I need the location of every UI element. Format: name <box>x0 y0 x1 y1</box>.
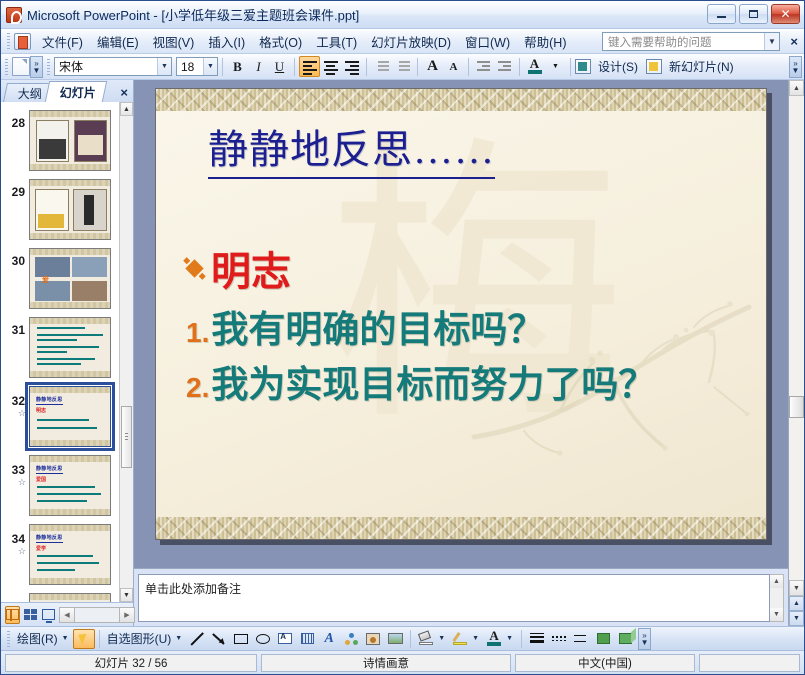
font-size-value: 18 <box>181 60 194 74</box>
arrow-tool-button[interactable] <box>208 629 230 649</box>
scrollbar-track[interactable] <box>789 96 804 580</box>
slide-number: 28 <box>3 110 29 130</box>
align-center-icon <box>324 61 338 72</box>
notes-scrollbar[interactable]: ▲ ▼ <box>770 574 784 622</box>
list-item[interactable]: 32 ☆ 静静地反思 明志 <box>1 383 119 452</box>
dash-style-button[interactable] <box>548 629 570 649</box>
window-controls: ✕ <box>707 4 800 24</box>
autoshapes-menu-button[interactable]: 自选图形(U) <box>104 630 175 647</box>
drawing-toolbar: 绘图(R) ▼ 自选图形(U) ▼ A ▼ ▼ A ▼ <box>1 626 804 650</box>
font-color-dropdown[interactable]: ▼ <box>545 56 566 77</box>
font-color-icon: A <box>486 629 503 648</box>
scroll-left-icon[interactable]: ◀ <box>59 607 75 623</box>
formatting-toolbar-overflow-icon[interactable]: »▼ <box>789 56 802 78</box>
decrease-indent-icon <box>477 61 491 72</box>
slide-thumbnail[interactable]: 静静地反思 爱学 <box>29 524 111 585</box>
slide-title[interactable]: 静静地反思…… <box>208 117 495 179</box>
slide-thumbnail[interactable]: 静静地反思 爱国 <box>29 455 111 516</box>
powerpoint-window: Microsoft PowerPoint - [小学低年级三爱主题班会课件.pp… <box>0 0 805 675</box>
menu-item-format[interactable]: 格式(O) <box>252 29 309 54</box>
scroll-right-icon[interactable]: ▶ <box>119 607 135 623</box>
list-item[interactable]: 29 <box>1 176 119 245</box>
fill-color-button[interactable] <box>415 629 437 649</box>
powerpoint-app-icon <box>6 7 22 23</box>
diamond-bullet-icon <box>185 259 203 277</box>
current-slide[interactable]: 梅 <box>155 88 767 540</box>
clip-art-icon <box>366 633 380 645</box>
arrow-style-button[interactable] <box>570 629 592 649</box>
list-item[interactable]: 33 ☆ 静静地反思 爱国 <box>1 452 119 521</box>
decrease-indent-button[interactable] <box>473 56 494 77</box>
slide-list-item-2[interactable]: 2. 我为实现目标而努力了吗？ <box>186 354 655 408</box>
slide-thumbnail[interactable]: 爱 <box>29 248 111 309</box>
thumbnail-accent: 爱学 <box>36 545 46 552</box>
editing-area: 梅 <box>134 80 788 626</box>
font-name-value: 宋体 <box>59 58 83 75</box>
thumbnail-accent: 明志 <box>36 407 46 414</box>
text-box-button[interactable] <box>274 629 296 649</box>
design-icon <box>575 59 591 74</box>
ask-a-question-box[interactable]: 键入需要帮助的问题 ▼ <box>602 32 780 51</box>
horizontal-scroll-mini[interactable]: ◀ ▶ <box>59 607 137 623</box>
text-box-icon <box>278 633 292 644</box>
list-number: 2. <box>186 372 209 404</box>
notes-scroll-down-icon[interactable]: ▼ <box>770 608 783 621</box>
bold-button[interactable]: B <box>227 56 248 77</box>
bulleted-list-icon <box>396 61 410 72</box>
autoshapes-chevron-down-icon[interactable]: ▼ <box>174 635 186 642</box>
scrollbar-thumb[interactable] <box>789 396 804 418</box>
align-right-button[interactable] <box>341 56 362 77</box>
bullets-button[interactable] <box>392 56 413 77</box>
shadow-icon <box>597 633 610 644</box>
slide-thumbnail[interactable] <box>29 110 111 171</box>
scrollbar-thumb[interactable] <box>121 406 132 468</box>
notes-pane: 单击此处添加备注 ▲ ▼ <box>134 568 788 626</box>
window-title: Microsoft PowerPoint - [小学低年级三爱主题班会课件.pp… <box>27 5 359 24</box>
drawing-toolbar-overflow-icon[interactable]: »▼ <box>638 628 651 650</box>
font-color-draw-chevron-down-icon[interactable]: ▼ <box>505 635 517 642</box>
view-mode-bar: ◀ ▶ <box>1 602 133 626</box>
slide-thumbnail[interactable] <box>29 317 111 378</box>
new-slide-icon <box>646 59 662 74</box>
status-design-template: 诗情画意 <box>261 654 511 672</box>
wordart-icon: A <box>325 632 334 646</box>
fill-color-icon <box>419 632 434 645</box>
oval-tool-button[interactable] <box>252 629 274 649</box>
document-icon <box>14 33 31 50</box>
insert-clip-art-button[interactable] <box>362 629 384 649</box>
bottom-decorative-border <box>156 517 766 539</box>
new-slide-button[interactable]: 新幻灯片(N) <box>646 58 738 75</box>
chevron-down-icon: ▼ <box>552 63 559 70</box>
close-pane-icon[interactable]: × <box>120 85 128 100</box>
slides-outline-pane: 大纲 幻灯片 × 28 <box>1 80 134 626</box>
grow-font-icon: A <box>427 58 438 75</box>
thumbnail-title: 静静地反思 <box>36 534 63 543</box>
scroll-down-icon[interactable]: ▼ <box>789 580 804 596</box>
design-button[interactable]: 设计(S) <box>575 58 642 75</box>
list-text: 我为实现目标而努力了吗？ <box>211 354 655 408</box>
slide-show-view-button[interactable] <box>41 606 56 624</box>
list-item[interactable]: 34 ☆ 静静地反思 爱学 <box>1 521 119 590</box>
slide-thumbnail[interactable] <box>29 593 111 602</box>
title-bar: Microsoft PowerPoint - [小学低年级三爱主题班会课件.pp… <box>1 1 804 29</box>
slide-vertical-scrollbar[interactable]: ▲ ▼ ▲ ▼ <box>788 80 804 626</box>
font-color-draw-button[interactable]: A <box>483 629 505 649</box>
design-label: 设计(S) <box>594 58 642 75</box>
slide-sorter-view-button[interactable] <box>23 606 38 624</box>
standard-toolbar-overflow-icon[interactable]: »▼ <box>30 56 43 78</box>
top-decorative-border <box>156 89 766 111</box>
menu-item-slideshow[interactable]: 幻灯片放映(D) <box>364 29 458 54</box>
align-left-icon <box>303 61 317 72</box>
list-item[interactable]: 28 <box>1 107 119 176</box>
status-slide-counter: 幻灯片 32 / 56 <box>5 654 257 672</box>
menu-item-help[interactable]: 帮助(H) <box>517 29 573 54</box>
draw-menu-button[interactable]: 绘图(R) <box>14 630 61 647</box>
line-style-button[interactable] <box>526 629 548 649</box>
font-size-chevron-down-icon[interactable]: ▼ <box>203 58 217 75</box>
thumbnail-title: 静静地反思 <box>36 465 63 474</box>
vertical-text-box-button[interactable] <box>296 629 318 649</box>
increase-indent-icon <box>498 61 512 72</box>
slide-list-item-1[interactable]: 1. 我有明确的目标吗？ <box>186 299 544 353</box>
dash-style-icon <box>552 633 566 644</box>
menu-bar: 文件(F) 编辑(E) 视图(V) 插入(I) 格式(O) 工具(T) 幻灯片放… <box>1 29 804 54</box>
arrow-icon <box>213 632 226 645</box>
scroll-down-icon[interactable]: ▼ <box>120 588 133 602</box>
slide-number: 31 <box>3 317 29 337</box>
main-area: 大纲 幻灯片 × 28 <box>1 80 804 626</box>
oval-icon <box>256 634 270 644</box>
formatting-toolbar-grip[interactable] <box>45 58 52 76</box>
slide-number: 33 <box>3 455 29 477</box>
line-color-button[interactable] <box>449 629 471 649</box>
close-button[interactable]: ✕ <box>771 4 800 24</box>
drawing-toolbar-grip[interactable] <box>5 630 12 648</box>
3d-style-button[interactable] <box>614 629 636 649</box>
scroll-up-icon[interactable]: ▲ <box>120 102 133 116</box>
font-color-icon: A <box>526 57 543 76</box>
new-slide-label: 新幻灯片(N) <box>665 58 738 75</box>
thumbnail-accent: 爱国 <box>36 476 46 483</box>
slide-number: 29 <box>3 179 29 199</box>
decrease-font-size-button[interactable]: A <box>443 56 464 77</box>
line-color-icon <box>453 632 468 645</box>
font-name-combo[interactable]: 宋体 ▼ <box>54 57 172 76</box>
insert-wordart-button[interactable]: A <box>318 629 340 649</box>
next-slide-button[interactable]: ▼ <box>789 611 804 626</box>
list-text: 我有明确的目标吗？ <box>211 299 544 353</box>
ask-a-question-placeholder: 键入需要帮助的问题 <box>608 34 712 50</box>
slide-thumbnail[interactable] <box>29 179 111 240</box>
slide-transition-icon[interactable]: ☆ <box>3 477 29 487</box>
notes-placeholder[interactable]: 单击此处添加备注 <box>138 574 770 622</box>
slide-show-icon <box>42 609 55 620</box>
picture-icon <box>388 633 403 644</box>
align-left-button[interactable] <box>299 56 320 77</box>
slide-thumbnail-selected[interactable]: 静静地反思 明志 <box>29 386 111 447</box>
thumbnail-scrollbar[interactable]: ▲ ▼ <box>119 102 133 602</box>
vertical-text-icon <box>301 633 314 644</box>
numbered-list-icon <box>375 61 389 72</box>
slide-number: 35 <box>3 593 29 602</box>
slide-sorter-icon <box>24 609 37 620</box>
slide-number: 34 <box>3 524 29 546</box>
menu-item-tools[interactable]: 工具(T) <box>309 29 364 54</box>
scroll-up-icon[interactable]: ▲ <box>789 80 804 96</box>
font-name-chevron-down-icon[interactable]: ▼ <box>157 58 171 75</box>
status-extra <box>699 654 800 672</box>
menu-item-edit[interactable]: 编辑(E) <box>90 29 146 54</box>
slide-transition-icon[interactable]: ☆ <box>3 546 29 556</box>
underline-button[interactable]: U <box>269 56 290 77</box>
normal-view-button[interactable] <box>5 606 20 624</box>
line-color-chevron-down-icon[interactable]: ▼ <box>471 635 483 642</box>
increase-indent-button[interactable] <box>494 56 515 77</box>
formatting-toolbar: »▼ 宋体 ▼ 18 ▼ B I U <box>1 54 804 80</box>
align-right-icon <box>345 61 359 72</box>
align-center-button[interactable] <box>320 56 341 77</box>
menu-item-view[interactable]: 视图(V) <box>146 29 202 54</box>
three-d-icon <box>619 633 632 644</box>
list-item[interactable]: 35 <box>1 590 119 602</box>
insert-picture-button[interactable] <box>384 629 406 649</box>
draw-chevron-down-icon[interactable]: ▼ <box>61 635 73 642</box>
shrink-font-icon: A <box>450 61 458 73</box>
slide-transition-icon[interactable]: ☆ <box>3 408 29 418</box>
line-tool-button[interactable] <box>186 629 208 649</box>
menu-item-insert[interactable]: 插入(I) <box>201 29 252 54</box>
menu-grip-handle[interactable] <box>5 32 12 50</box>
thumbnail-title: 静静地反思 <box>36 396 63 405</box>
slide-bullet-heading[interactable]: 明志 <box>188 239 291 297</box>
list-number: 1. <box>186 317 209 349</box>
restore-button[interactable] <box>739 4 768 24</box>
slide-number: 30 <box>3 248 29 268</box>
status-bar: 幻灯片 32 / 56 诗情画意 中文(中国) <box>1 650 804 674</box>
numbering-button[interactable] <box>371 56 392 77</box>
tab-slides[interactable]: 幻灯片 <box>45 81 107 102</box>
notes-scroll-up-icon[interactable]: ▲ <box>770 575 783 588</box>
menu-item-window[interactable]: 窗口(W) <box>458 29 517 54</box>
rectangle-icon <box>234 634 248 644</box>
thumbnail-container: 28 29 <box>1 102 119 602</box>
insert-diagram-button[interactable] <box>340 629 362 649</box>
previous-slide-button[interactable]: ▲ <box>789 596 804 611</box>
diagram-icon <box>345 633 358 645</box>
standard-toolbar-grip[interactable] <box>3 58 10 76</box>
font-size-combo[interactable]: 18 ▼ <box>176 57 218 76</box>
increase-font-size-button[interactable]: A <box>422 56 443 77</box>
list-item[interactable]: 31 <box>1 314 119 383</box>
menu-item-file[interactable]: 文件(F) <box>35 29 90 54</box>
minimize-button[interactable] <box>707 4 736 24</box>
slide-thumbnail-list: 28 29 <box>1 102 133 602</box>
rectangle-tool-button[interactable] <box>230 629 252 649</box>
italic-button[interactable]: I <box>248 56 269 77</box>
new-document-icon[interactable] <box>12 57 30 76</box>
chevron-down-icon[interactable]: ▼ <box>764 33 779 50</box>
cursor-arrow-icon <box>78 632 89 645</box>
normal-view-icon <box>6 609 19 620</box>
line-icon <box>191 632 204 645</box>
close-window-menu-icon[interactable]: × <box>790 34 798 49</box>
list-item[interactable]: 30 爱 <box>1 245 119 314</box>
line-style-icon <box>530 633 544 645</box>
pane-tabs: 大纲 幻灯片 × <box>1 80 133 102</box>
fill-color-chevron-down-icon[interactable]: ▼ <box>437 635 449 642</box>
slide-bullet-text: 明志 <box>211 239 291 297</box>
slide-canvas: 梅 <box>134 80 788 568</box>
select-objects-button[interactable] <box>73 629 95 649</box>
shadow-style-button[interactable] <box>592 629 614 649</box>
slide-number: 32 <box>3 386 29 408</box>
font-color-button[interactable]: A <box>524 56 545 77</box>
status-language: 中文(中国) <box>515 654 695 672</box>
arrow-style-icon <box>574 633 588 645</box>
